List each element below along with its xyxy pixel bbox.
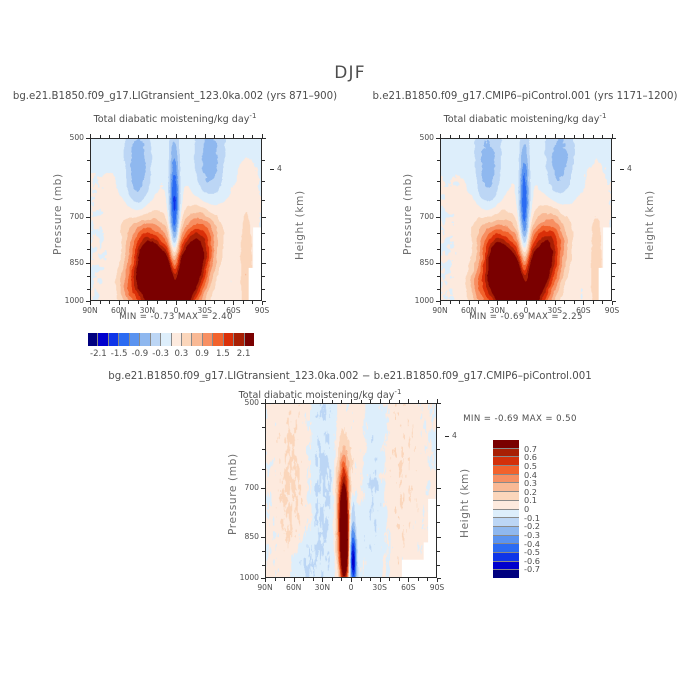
y-tick-minor bbox=[437, 505, 440, 506]
y2-axis-label-diff: Height (km) bbox=[459, 468, 471, 538]
x-tick-minor bbox=[507, 301, 508, 304]
y-tick-minor bbox=[437, 233, 440, 234]
x-tick-mark-top bbox=[612, 134, 613, 138]
y2-axis-label-left: Height (km) bbox=[294, 190, 306, 260]
colorbar-tick-label: -0.7 bbox=[524, 564, 540, 574]
x-tick-minor bbox=[564, 135, 565, 138]
y-tick-mark-right bbox=[262, 217, 266, 218]
panel-diff-variable-label: Total diabatic moistening/kg day-1 bbox=[155, 388, 485, 401]
x-tick-minor bbox=[109, 135, 110, 138]
panel-diff-case-title: bg.e21.B1850.f09_g17.LIGtransient_123.0k… bbox=[0, 371, 700, 382]
x-tick-mark bbox=[119, 301, 120, 305]
x-tick-minor bbox=[186, 301, 187, 304]
contour-field-right bbox=[441, 139, 611, 300]
y-tick-label: 1000 bbox=[54, 296, 84, 305]
x-tick-minor bbox=[564, 301, 565, 304]
y-tick-minor bbox=[437, 522, 440, 523]
colorbar-cell bbox=[493, 526, 519, 535]
x-tick-minor bbox=[284, 578, 285, 581]
x-tick-minor bbox=[545, 301, 546, 304]
colorbar-cell bbox=[244, 333, 254, 346]
colorbar-cell bbox=[493, 543, 519, 552]
x-tick-minor bbox=[399, 400, 400, 403]
x-tick-mark bbox=[497, 301, 498, 305]
colorbar-cell bbox=[88, 333, 97, 346]
x-tick-minor bbox=[427, 578, 428, 581]
x-tick-minor bbox=[488, 301, 489, 304]
x-tick-mark-top bbox=[497, 134, 498, 138]
minmax-readout: MIN = -0.73 MAX = 2.40 bbox=[76, 312, 276, 322]
panel-left-variable-label: Total diabatic moistening/kg day-1 bbox=[0, 112, 350, 125]
y-tick-minor bbox=[87, 249, 90, 250]
y-tick-label: 700 bbox=[54, 212, 84, 221]
y-tick-minor bbox=[87, 289, 90, 290]
x-tick-mark bbox=[469, 301, 470, 305]
x-tick-mark-top bbox=[233, 134, 234, 138]
y-tick-minor bbox=[612, 249, 615, 250]
colorbar-cell bbox=[493, 456, 519, 465]
x-tick-mark-top bbox=[437, 399, 438, 403]
colorbar-cell bbox=[493, 509, 519, 518]
height-tick-label: 4 bbox=[452, 431, 466, 440]
y-tick-label: 850 bbox=[404, 258, 434, 267]
y-tick-minor bbox=[262, 233, 265, 234]
x-tick-label: 0 bbox=[335, 583, 367, 592]
x-tick-minor bbox=[332, 578, 333, 581]
x-tick-minor bbox=[602, 301, 603, 304]
colorbar-cell bbox=[160, 333, 170, 346]
colorbar-cell bbox=[493, 552, 519, 561]
x-tick-minor bbox=[389, 400, 390, 403]
colorbar-cell bbox=[493, 465, 519, 474]
x-tick-minor bbox=[574, 301, 575, 304]
x-tick-minor bbox=[243, 301, 244, 304]
y-tick-minor bbox=[262, 469, 265, 470]
x-tick-mark bbox=[555, 301, 556, 305]
x-tick-minor bbox=[478, 135, 479, 138]
colorbar-cell bbox=[233, 333, 243, 346]
x-tick-minor bbox=[536, 135, 537, 138]
colorbar-cell bbox=[493, 517, 519, 526]
x-tick-minor bbox=[399, 578, 400, 581]
y-tick-label: 700 bbox=[404, 212, 434, 221]
colorbar-cell bbox=[493, 482, 519, 491]
x-tick-mark-top bbox=[119, 134, 120, 138]
y-tick-mark bbox=[86, 263, 90, 264]
x-tick-label: 60N bbox=[278, 583, 310, 592]
y-tick-minor bbox=[612, 160, 615, 161]
height-tick-mark bbox=[445, 436, 449, 437]
y-tick-minor bbox=[437, 469, 440, 470]
x-tick-mark bbox=[437, 578, 438, 582]
x-tick-mark bbox=[408, 578, 409, 582]
x-tick-minor bbox=[361, 400, 362, 403]
x-tick-minor bbox=[186, 135, 187, 138]
x-tick-minor bbox=[195, 301, 196, 304]
y-tick-minor bbox=[262, 551, 265, 552]
x-tick-mark-top bbox=[526, 134, 527, 138]
x-tick-mark bbox=[205, 301, 206, 305]
colorbar-cell bbox=[493, 500, 519, 509]
x-tick-mark-top bbox=[294, 399, 295, 403]
colorbar-cell bbox=[493, 474, 519, 483]
x-tick-minor bbox=[313, 578, 314, 581]
colorbar-cell bbox=[493, 448, 519, 457]
x-tick-minor bbox=[313, 400, 314, 403]
y-tick-label: 850 bbox=[229, 532, 259, 541]
x-tick-minor bbox=[275, 578, 276, 581]
x-tick-label: 30S bbox=[364, 583, 396, 592]
y-tick-mark-right bbox=[612, 138, 616, 139]
x-tick-mark bbox=[380, 578, 381, 582]
x-tick-minor bbox=[516, 135, 517, 138]
y-tick-mark bbox=[436, 138, 440, 139]
x-tick-minor bbox=[275, 400, 276, 403]
panel-left-case-title: bg.e21.B1850.f09_g17.LIGtransient_123.0k… bbox=[0, 91, 350, 102]
height-tick-mark bbox=[620, 169, 624, 170]
x-tick-minor bbox=[100, 135, 101, 138]
x-tick-minor bbox=[418, 578, 419, 581]
y-tick-mark-right bbox=[262, 263, 266, 264]
y-tick-label: 500 bbox=[54, 133, 84, 142]
x-tick-minor bbox=[166, 301, 167, 304]
x-tick-mark-top bbox=[351, 399, 352, 403]
x-tick-minor bbox=[214, 301, 215, 304]
x-tick-mark-top bbox=[262, 134, 263, 138]
x-tick-minor bbox=[214, 135, 215, 138]
colorbar-cell bbox=[493, 561, 519, 570]
colorbar-cell bbox=[493, 535, 519, 544]
panel-right-variable-label: Total diabatic moistening/kg day-1 bbox=[350, 112, 700, 125]
x-tick-mark bbox=[440, 301, 441, 305]
height-tick-label: 4 bbox=[627, 164, 641, 173]
y-tick-minor bbox=[437, 427, 440, 428]
colorbar-cell bbox=[139, 333, 149, 346]
x-tick-minor bbox=[157, 135, 158, 138]
y-axis-label-diff: Pressure (mb) bbox=[227, 453, 239, 535]
x-tick-minor bbox=[284, 400, 285, 403]
x-tick-mark bbox=[147, 301, 148, 305]
x-tick-mark bbox=[351, 578, 352, 582]
y-tick-minor bbox=[262, 289, 265, 290]
y-tick-mark bbox=[436, 263, 440, 264]
y-tick-minor bbox=[612, 200, 615, 201]
x-tick-mark-top bbox=[555, 134, 556, 138]
y-tick-minor bbox=[437, 276, 440, 277]
x-tick-minor bbox=[303, 578, 304, 581]
x-tick-minor bbox=[450, 301, 451, 304]
x-tick-minor bbox=[602, 135, 603, 138]
plot-area-right[interactable] bbox=[440, 138, 612, 301]
y-tick-mark-right bbox=[262, 138, 266, 139]
y-tick-minor bbox=[437, 200, 440, 201]
y-tick-mark-right bbox=[437, 537, 441, 538]
y-tick-minor bbox=[437, 449, 440, 450]
x-tick-label: 30N bbox=[306, 583, 338, 592]
height-tick-mark bbox=[270, 169, 274, 170]
colorbar-cell bbox=[223, 333, 233, 346]
x-tick-mark bbox=[526, 301, 527, 305]
y-tick-label: 850 bbox=[54, 258, 84, 267]
y-tick-mark bbox=[261, 403, 265, 404]
y-tick-minor bbox=[87, 276, 90, 277]
y-tick-minor bbox=[87, 233, 90, 234]
figure-title: DJF bbox=[0, 63, 700, 83]
x-tick-mark-top bbox=[440, 134, 441, 138]
y-tick-minor bbox=[437, 160, 440, 161]
x-tick-minor bbox=[224, 135, 225, 138]
plot-area-left[interactable] bbox=[90, 138, 262, 301]
y-tick-label: 1000 bbox=[229, 573, 259, 582]
colorbar-tick-label: 2.1 bbox=[228, 349, 260, 359]
colorbar-cell bbox=[108, 333, 118, 346]
x-tick-mark-top bbox=[265, 399, 266, 403]
x-tick-mark-top bbox=[205, 134, 206, 138]
x-tick-mark bbox=[294, 578, 295, 582]
x-tick-mark-top bbox=[176, 134, 177, 138]
height-tick-label: 4 bbox=[277, 164, 291, 173]
x-tick-label: 60S bbox=[392, 583, 424, 592]
x-tick-mark bbox=[265, 578, 266, 582]
y-tick-minor bbox=[87, 200, 90, 201]
x-tick-minor bbox=[536, 301, 537, 304]
x-tick-mark bbox=[612, 301, 613, 305]
x-tick-minor bbox=[128, 135, 129, 138]
y-tick-label: 500 bbox=[404, 133, 434, 142]
x-tick-minor bbox=[252, 135, 253, 138]
y-tick-minor bbox=[262, 449, 265, 450]
y-tick-minor bbox=[437, 249, 440, 250]
y-tick-mark bbox=[261, 488, 265, 489]
y-tick-minor bbox=[612, 181, 615, 182]
y-tick-minor bbox=[612, 289, 615, 290]
y-tick-mark bbox=[261, 537, 265, 538]
x-tick-mark-top bbox=[583, 134, 584, 138]
colorbar-cell bbox=[97, 333, 107, 346]
x-tick-minor bbox=[478, 301, 479, 304]
colorbar-cell bbox=[493, 440, 519, 448]
contour-field-difference bbox=[266, 404, 436, 577]
plot-area-difference[interactable] bbox=[265, 403, 437, 578]
colorbar-cell bbox=[202, 333, 212, 346]
colorbar-bottom[interactable] bbox=[493, 440, 519, 578]
y-tick-minor bbox=[262, 427, 265, 428]
x-tick-minor bbox=[224, 301, 225, 304]
x-tick-minor bbox=[361, 578, 362, 581]
x-tick-minor bbox=[507, 135, 508, 138]
x-tick-minor bbox=[370, 400, 371, 403]
y-tick-mark-right bbox=[437, 488, 441, 489]
y-tick-minor bbox=[87, 160, 90, 161]
x-tick-mark bbox=[322, 578, 323, 582]
colorbar-top[interactable] bbox=[88, 333, 254, 346]
x-tick-minor bbox=[593, 301, 594, 304]
x-tick-mark bbox=[90, 301, 91, 305]
y-tick-label: 700 bbox=[229, 483, 259, 492]
x-tick-minor bbox=[243, 135, 244, 138]
y-tick-minor bbox=[437, 551, 440, 552]
y-tick-minor bbox=[262, 160, 265, 161]
x-tick-mark-top bbox=[90, 134, 91, 138]
x-tick-minor bbox=[427, 400, 428, 403]
x-tick-label: 90S bbox=[421, 583, 453, 592]
x-tick-label: 90N bbox=[249, 583, 281, 592]
y-tick-minor bbox=[262, 565, 265, 566]
colorbar-cell bbox=[118, 333, 128, 346]
x-tick-minor bbox=[303, 400, 304, 403]
minmax-readout: MIN = -0.69 MAX = 0.50 bbox=[440, 414, 600, 424]
y-tick-minor bbox=[612, 233, 615, 234]
y-tick-minor bbox=[87, 181, 90, 182]
panel-right-case-title: b.e21.B1850.f09_g17.CMIP6–piControl.001 … bbox=[350, 91, 700, 102]
x-tick-minor bbox=[109, 301, 110, 304]
x-tick-minor bbox=[100, 301, 101, 304]
y-tick-minor bbox=[262, 522, 265, 523]
colorbar-cell bbox=[150, 333, 160, 346]
x-tick-minor bbox=[459, 301, 460, 304]
x-tick-minor bbox=[166, 135, 167, 138]
y-tick-mark-right bbox=[612, 217, 616, 218]
x-tick-mark-top bbox=[147, 134, 148, 138]
colorbar-cell bbox=[493, 569, 519, 578]
x-tick-minor bbox=[516, 301, 517, 304]
x-tick-mark-top bbox=[380, 399, 381, 403]
y-tick-label: 500 bbox=[229, 398, 259, 407]
x-tick-mark bbox=[583, 301, 584, 305]
y-tick-minor bbox=[262, 276, 265, 277]
y-tick-minor bbox=[262, 200, 265, 201]
x-tick-mark-top bbox=[322, 399, 323, 403]
y-tick-minor bbox=[262, 249, 265, 250]
x-tick-minor bbox=[593, 135, 594, 138]
x-tick-minor bbox=[252, 301, 253, 304]
x-tick-mark bbox=[262, 301, 263, 305]
y-tick-minor bbox=[437, 289, 440, 290]
x-tick-minor bbox=[138, 135, 139, 138]
x-tick-mark bbox=[176, 301, 177, 305]
contour-field-left bbox=[91, 139, 261, 300]
x-tick-minor bbox=[341, 400, 342, 403]
x-tick-minor bbox=[341, 578, 342, 581]
y2-axis-label-right: Height (km) bbox=[644, 190, 656, 260]
colorbar-cell bbox=[493, 491, 519, 500]
x-tick-minor bbox=[195, 135, 196, 138]
colorbar-cell bbox=[129, 333, 139, 346]
x-tick-minor bbox=[545, 135, 546, 138]
x-tick-mark bbox=[233, 301, 234, 305]
x-tick-minor bbox=[332, 400, 333, 403]
x-tick-minor bbox=[574, 135, 575, 138]
colorbar-cell bbox=[191, 333, 201, 346]
x-tick-minor bbox=[488, 135, 489, 138]
y-tick-mark bbox=[436, 217, 440, 218]
y-tick-label: 1000 bbox=[404, 296, 434, 305]
colorbar-cell bbox=[212, 333, 222, 346]
y-tick-mark bbox=[86, 217, 90, 218]
x-tick-minor bbox=[418, 400, 419, 403]
x-tick-minor bbox=[370, 578, 371, 581]
y-tick-mark-right bbox=[437, 403, 441, 404]
y-tick-minor bbox=[437, 181, 440, 182]
y-tick-minor bbox=[612, 276, 615, 277]
y-tick-mark-right bbox=[612, 263, 616, 264]
colorbar-cell bbox=[171, 333, 181, 346]
x-tick-minor bbox=[138, 301, 139, 304]
y-tick-mark bbox=[86, 138, 90, 139]
x-tick-minor bbox=[389, 578, 390, 581]
x-tick-minor bbox=[450, 135, 451, 138]
x-tick-mark-top bbox=[408, 399, 409, 403]
x-tick-minor bbox=[128, 301, 129, 304]
colorbar-cell bbox=[181, 333, 191, 346]
y-tick-minor bbox=[262, 505, 265, 506]
x-tick-minor bbox=[459, 135, 460, 138]
x-tick-mark-top bbox=[469, 134, 470, 138]
y-tick-minor bbox=[262, 181, 265, 182]
minmax-readout: MIN = -0.69 MAX = 2.25 bbox=[426, 312, 626, 322]
x-tick-minor bbox=[157, 301, 158, 304]
y-tick-minor bbox=[437, 565, 440, 566]
